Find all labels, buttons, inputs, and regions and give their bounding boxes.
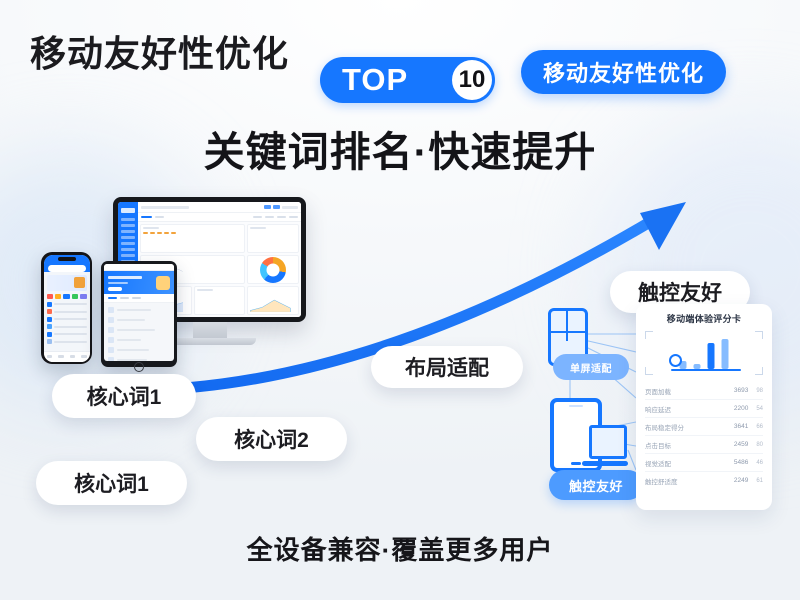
row-value: 3641	[734, 423, 748, 430]
top-badge-word: TOP	[342, 62, 408, 98]
widget-filter	[140, 224, 245, 253]
poster-canvas: 移动友好性优化 TOP 10 移动友好性优化 关键词排名·快速提升	[0, 0, 800, 600]
keyword-pill-2[interactable]: 核心词2	[196, 417, 347, 461]
score-bars	[680, 339, 729, 369]
mobile-score-card: 移动端体验评分卡 页面加载 3693 98	[636, 304, 772, 510]
row-value: 5486	[734, 459, 748, 466]
row-extra: 66	[756, 424, 763, 430]
widget-table	[194, 286, 246, 315]
table-row: 点击目标 2459 80	[645, 436, 763, 454]
score-card-rows: 页面加载 3693 98 响应延迟 2200 54 布局稳定得分 3641 66…	[645, 382, 763, 489]
row-extra: 80	[756, 442, 763, 448]
illustration-laptop	[589, 425, 627, 463]
tablet-tabs	[104, 294, 174, 303]
smartphone-mockup	[41, 252, 92, 364]
dashboard-topbar	[138, 202, 301, 213]
widget-area-chart-2	[247, 286, 299, 315]
row-name: 响应延迟	[645, 404, 671, 414]
row-name: 页面加载	[645, 386, 671, 396]
score-card-title: 移动端体验评分卡	[645, 312, 763, 325]
top-badge-number: 10	[452, 60, 492, 100]
tablet-home-button	[134, 362, 144, 372]
tablet-mockup	[101, 261, 177, 367]
phone-search-bar	[48, 265, 86, 272]
phone-tabbar	[44, 351, 90, 362]
phone-quick-icons	[47, 294, 87, 299]
phone-banner	[47, 275, 87, 291]
widget-stat	[247, 224, 299, 253]
illustration-touch-friendly-pill[interactable]: 触控友好	[549, 470, 643, 500]
tablet-banner	[104, 271, 174, 294]
row-name: 布局稳定得分	[645, 422, 684, 432]
page-title: 关键词排名·快速提升	[0, 118, 800, 178]
layout-adaptation-pill[interactable]: 布局适配	[371, 346, 523, 388]
row-name: 视觉适配	[645, 458, 671, 468]
row-name: 触控舒适度	[645, 476, 678, 486]
single-screen-fit-pill[interactable]: 单屏适配	[553, 354, 629, 380]
row-value: 2459	[734, 441, 748, 448]
table-row: 视觉适配 5486 46	[645, 454, 763, 472]
widget-donut-chart	[247, 255, 299, 284]
row-extra: 98	[756, 388, 763, 394]
table-row: 响应延迟 2200 54	[645, 400, 763, 418]
table-row: 页面加载 3693 98	[645, 382, 763, 400]
tablet-screen	[104, 264, 174, 361]
phone-notch	[58, 257, 76, 261]
row-extra: 54	[756, 406, 763, 412]
keyword-pill-1[interactable]: 核心词1	[52, 374, 196, 418]
score-marker-icon	[669, 354, 682, 367]
row-extra: 46	[756, 460, 763, 466]
table-row: 触控舒适度 2249 61	[645, 472, 763, 489]
row-value: 2249	[734, 477, 748, 484]
phone-screen	[44, 255, 90, 362]
mobile-experience-illustration: 单屏适配 触控友好 移动端体验评分卡	[540, 300, 772, 520]
monitor-stand-neck	[193, 322, 227, 338]
keyword-pill-3[interactable]: 核心词1	[36, 461, 187, 505]
donut-chart	[260, 257, 286, 283]
row-value: 2200	[734, 405, 748, 412]
header-blue-tag: 移动友好性优化	[521, 50, 726, 94]
footer-tagline: 全设备兼容·覆盖更多用户	[0, 530, 800, 567]
score-card-chart	[645, 331, 763, 375]
row-name: 点击目标	[645, 440, 671, 450]
top-rank-badge: TOP 10	[320, 57, 495, 103]
row-extra: 61	[756, 478, 763, 484]
monitor-stand-base	[164, 338, 256, 345]
table-row: 布局稳定得分 3641 66	[645, 418, 763, 436]
kicker-title: 移动友好性优化	[30, 25, 289, 77]
dashboard-tabs	[138, 213, 301, 222]
row-value: 3693	[734, 387, 748, 394]
